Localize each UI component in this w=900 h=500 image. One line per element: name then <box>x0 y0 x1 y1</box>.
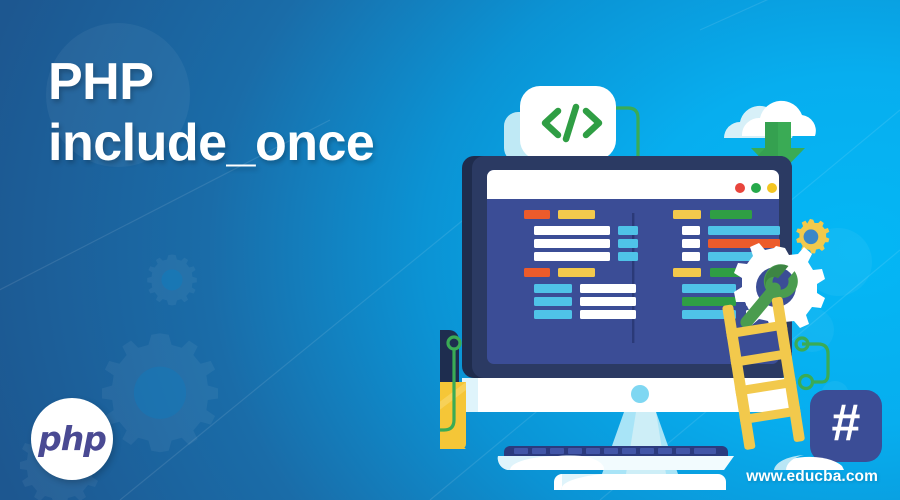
php-logo: php <box>31 398 113 480</box>
page-title: PHP include_once <box>48 52 374 174</box>
php-logo-text: php <box>38 419 106 458</box>
hashtag-badge: # <box>810 390 882 462</box>
wire-node-icon <box>800 376 813 389</box>
svg-text:#: # <box>832 394 861 452</box>
window-dots <box>735 183 777 193</box>
small-gear-icon <box>796 219 829 254</box>
power-indicator-icon <box>631 385 649 403</box>
banner: PHP include_once php www.educba.com <box>0 0 900 500</box>
developer-illustration: # <box>440 50 900 500</box>
keyboard <box>498 446 734 470</box>
